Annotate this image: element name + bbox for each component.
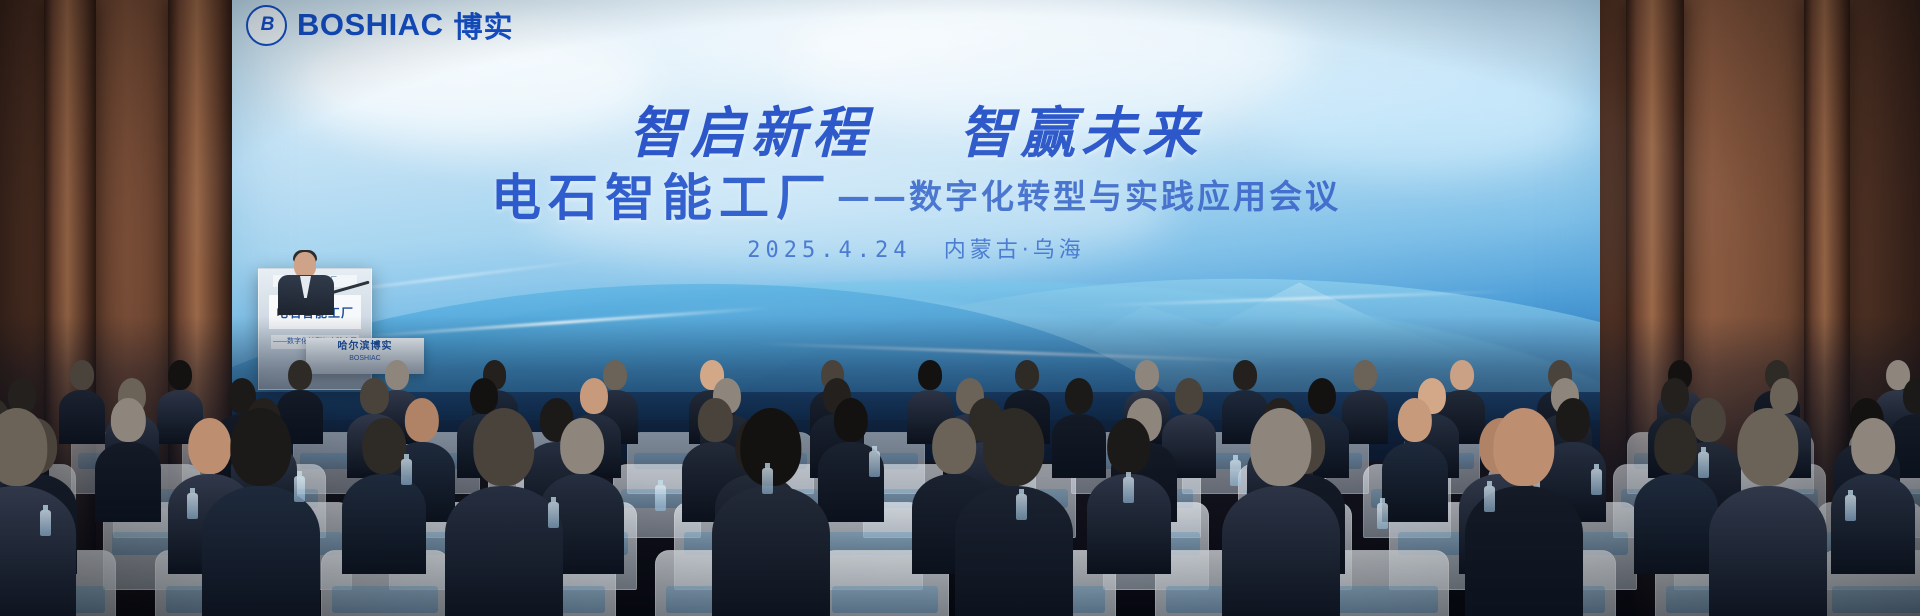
- conference-title-subtitle: ——数字化转型与实践应用会议: [837, 170, 1341, 218]
- audience-member-torso: [1709, 486, 1827, 616]
- audience-member-head: [1107, 418, 1151, 474]
- audience-member-torso: [1382, 442, 1448, 522]
- audience-member: [1831, 418, 1915, 574]
- audience-member-head: [560, 418, 604, 474]
- audience-member: [445, 408, 563, 616]
- audience-member-head: [983, 408, 1044, 486]
- audience-member-head: [1654, 418, 1698, 474]
- water-bottle: [40, 510, 51, 536]
- chair-back-band: [1832, 586, 1920, 613]
- boshiac-logo-icon: B: [246, 5, 287, 46]
- conference-title-main: 电石智能工厂: [491, 158, 833, 230]
- audience-member: [1382, 398, 1448, 522]
- conference-location: 内蒙古·乌海: [944, 238, 1085, 263]
- water-bottle: [869, 451, 880, 477]
- audience-member-head: [360, 378, 388, 414]
- audience-member-head: [1398, 398, 1432, 442]
- audience-member-torso: [95, 442, 161, 522]
- conference-photo-scene: B BOSHIAC 博实 智启新程 智赢未来 电石智能工厂 ——数字化转型与实践…: [0, 0, 1920, 616]
- water-bottle: [401, 459, 412, 485]
- audience-member-head: [473, 408, 534, 486]
- calligraphy-slogan: 智启新程 智赢未来: [232, 88, 1600, 168]
- calligraphy-phrase-2: 智赢未来: [959, 100, 1203, 165]
- audience-member: [1709, 408, 1827, 616]
- audience-member-head: [1903, 378, 1920, 414]
- audience-member-head: [1353, 360, 1377, 390]
- chair-back-band: [832, 586, 938, 613]
- water-bottle: [187, 493, 198, 519]
- water-bottle: [1123, 477, 1134, 503]
- boshiac-logo: B BOSHIAC 博实: [246, 4, 513, 46]
- audience-member: [1634, 418, 1718, 574]
- water-bottle: [1591, 469, 1602, 495]
- audience-area: [0, 316, 1920, 616]
- audience-member-head: [1136, 360, 1160, 390]
- audience-member-head: [168, 360, 192, 390]
- audience-member-head: [834, 398, 868, 442]
- audience-member-torso: [1831, 474, 1915, 574]
- audience-member: [1222, 408, 1340, 616]
- audience-member-head: [1737, 408, 1798, 486]
- audience-member-torso: [0, 486, 76, 616]
- audience-member-head: [1852, 418, 1896, 474]
- audience-member-head: [0, 408, 48, 486]
- speaker-at-podium: [276, 252, 336, 314]
- audience-member-torso: [202, 486, 320, 616]
- audience-member: [712, 408, 830, 616]
- audience-member-torso: [445, 486, 563, 616]
- audience-member: [955, 408, 1073, 616]
- audience-member-head: [70, 360, 94, 390]
- audience-member-head: [111, 398, 145, 442]
- conference-date: 2025.4.24: [747, 238, 911, 263]
- audience-member: [202, 408, 320, 616]
- chair-back-band: [1332, 586, 1438, 613]
- water-bottle: [762, 468, 773, 494]
- water-bottle: [1698, 452, 1709, 478]
- audience-member: [342, 418, 426, 574]
- audience-member-head: [1493, 408, 1554, 486]
- audience-member-head: [1015, 360, 1039, 390]
- water-bottle: [294, 476, 305, 502]
- water-bottle: [655, 485, 666, 511]
- audience-member: [1465, 408, 1583, 616]
- audience-member-head: [1250, 408, 1311, 486]
- conference-title-row: 电石智能工厂 ——数字化转型与实践应用会议: [232, 158, 1600, 230]
- audience-member-head: [362, 418, 406, 474]
- audience-member-head: [1233, 360, 1257, 390]
- audience-member-torso: [1465, 486, 1583, 616]
- audience-member: [95, 398, 161, 522]
- chair-back-band: [332, 586, 438, 613]
- audience-member-head: [288, 360, 312, 390]
- audience-member-head: [918, 360, 942, 390]
- audience-member-torso: [712, 486, 830, 616]
- audience-member-head: [1175, 378, 1203, 414]
- calligraphy-phrase-1: 智启新程: [629, 100, 873, 165]
- audience-member: [0, 408, 76, 616]
- audience-member-torso: [342, 474, 426, 574]
- logo-chinese-name: 博实: [453, 4, 513, 46]
- audience-member-torso: [1222, 486, 1340, 616]
- water-bottle: [1230, 460, 1241, 486]
- water-bottle: [1377, 503, 1388, 529]
- audience-member-head: [230, 408, 291, 486]
- logo-english-name: BOSHIAC: [297, 7, 443, 43]
- water-bottle: [548, 502, 559, 528]
- water-bottle: [1484, 486, 1495, 512]
- water-bottle: [1845, 495, 1856, 521]
- logo-mark-letter: B: [261, 14, 273, 36]
- audience-member-torso: [955, 486, 1073, 616]
- conference-date-location: 2025.4.24 内蒙古·乌海: [232, 232, 1600, 264]
- water-bottle: [1016, 494, 1027, 520]
- audience-member-torso: [1634, 474, 1718, 574]
